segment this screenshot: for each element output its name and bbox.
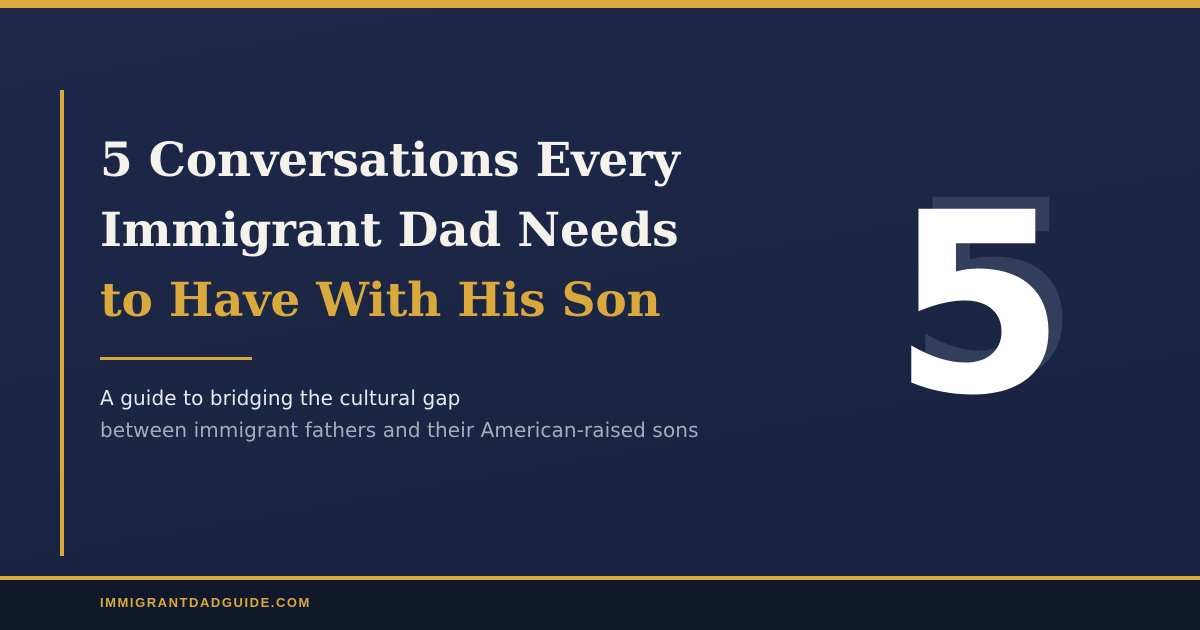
top-gold-rule <box>0 0 1200 8</box>
numeral-decoration: 5 5 <box>870 158 1070 428</box>
site-url-label: IMMIGRANTDADGUIDE.COM <box>100 595 311 610</box>
page-title: 5 Conversations Every Immigrant Dad Need… <box>100 126 800 336</box>
subtitle-line-2: between immigrant fathers and their Amer… <box>100 414 860 446</box>
numeral-front-layer: 5 <box>892 180 1066 430</box>
left-gold-accent-bar <box>60 90 64 556</box>
subtitle-block: A guide to bridging the cultural gap bet… <box>100 382 860 446</box>
title-divider-rule <box>100 357 252 360</box>
headline-line-3: to Have With His Son <box>100 266 800 336</box>
card-body: 5 Conversations Every Immigrant Dad Need… <box>0 8 1200 576</box>
headline-line-1: 5 Conversations Every <box>100 126 800 196</box>
headline-line-2: Immigrant Dad Needs <box>100 196 800 266</box>
subtitle-line-1: A guide to bridging the cultural gap <box>100 382 860 414</box>
social-share-card: 5 Conversations Every Immigrant Dad Need… <box>0 0 1200 630</box>
